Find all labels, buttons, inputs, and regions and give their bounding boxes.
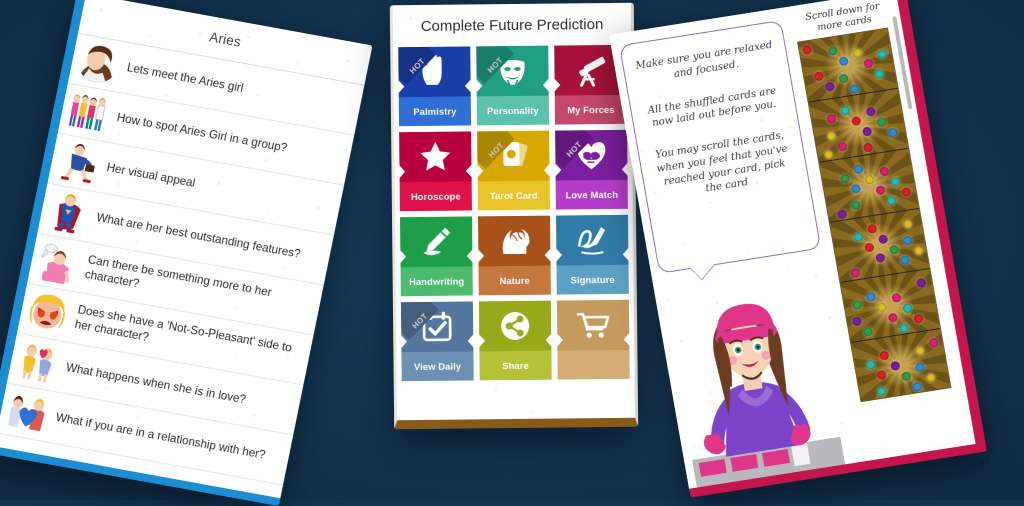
card-gem-dot <box>850 268 860 278</box>
card-gem-dot <box>865 175 875 185</box>
tile-label: Tarot Card <box>490 190 538 201</box>
aries-question-list: Lets meet the Aries girlHow to spot Arie… <box>0 34 364 486</box>
pen-writing-icon <box>400 216 473 267</box>
card-gem-dot <box>877 302 887 312</box>
card-gem-dot <box>903 219 913 229</box>
card-gem-dot <box>901 371 911 381</box>
card-gem-dot <box>865 107 875 117</box>
tile-handwriting[interactable]: Handwriting <box>400 216 473 296</box>
card-gem-dot <box>852 300 862 310</box>
card-gem-dot <box>867 223 877 233</box>
tile-label: Signature <box>571 274 615 285</box>
card-gem-dot <box>826 114 836 124</box>
card-gem-dot <box>900 255 910 265</box>
tile-nature[interactable]: Nature <box>478 216 551 296</box>
page-title-text: Aries <box>208 29 242 49</box>
shopping-cart-icon <box>557 300 630 351</box>
tile-love-match[interactable]: Love MatchHOT <box>555 130 628 210</box>
card-gem-dot <box>837 209 847 219</box>
tile-label: Handwriting <box>409 276 464 288</box>
angry-face-icon <box>24 290 71 336</box>
card-gem-dot <box>929 337 939 347</box>
app-background: Aries Lets meet the Aries girlHow to spo… <box>0 0 1024 500</box>
middle-phone-mockup: Complete Future Prediction PalmistryHOTP… <box>390 3 638 430</box>
tile-label-wrap: Horoscope <box>400 181 472 211</box>
card-gem-dot <box>887 128 897 138</box>
tile-label-wrap: Nature <box>479 266 551 296</box>
card-gem-dot <box>862 126 872 136</box>
card-gem-dot <box>879 166 889 176</box>
card-gem-dot <box>902 303 912 313</box>
thinking-woman-icon <box>34 240 81 286</box>
card-gem-dot <box>838 73 848 83</box>
tile-label-wrap: Tarot Card <box>478 181 550 211</box>
card-gem-dot <box>863 58 873 68</box>
left-phone-screen: Aries Lets meet the Aries girlHow to spo… <box>0 0 372 506</box>
card-gem-dot <box>876 185 886 195</box>
card-gem-dot <box>863 142 873 152</box>
portrait-avatar-icon <box>75 40 122 86</box>
card-gem-dot <box>913 314 923 324</box>
tile-palmistry[interactable]: PalmistryHOT <box>398 46 471 126</box>
tile-label: Love Match <box>565 189 618 201</box>
couple-in-love-icon <box>14 340 61 386</box>
tile-label-wrap: Personality <box>477 96 549 126</box>
card-gem-dot <box>891 293 901 303</box>
walking-woman-icon <box>55 140 102 186</box>
card-gem-dot <box>838 57 848 67</box>
card-gem-dot <box>851 184 861 194</box>
tile-label-wrap: View Daily <box>401 351 473 381</box>
card-gem-dot <box>865 359 875 369</box>
instruction-line: All the shuffled cards are now laid out … <box>641 83 786 132</box>
group-of-girls-icon <box>65 90 112 136</box>
card-gem-dot <box>926 373 936 383</box>
middle-phone-screen: Complete Future Prediction PalmistryHOTP… <box>390 3 638 430</box>
card-gem-dot <box>901 187 911 197</box>
tile-label-wrap: Share <box>479 351 551 381</box>
card-gem-dot <box>887 196 897 206</box>
card-gem-dot <box>851 116 861 126</box>
tile-label: Horoscope <box>411 191 461 203</box>
card-gem-dot <box>874 69 884 79</box>
card-gem-dot <box>852 48 862 58</box>
tile-label: My Forces <box>567 104 614 115</box>
tile-label: Nature <box>499 275 529 286</box>
card-gem-dot <box>875 253 885 263</box>
card-gem-dot <box>853 232 863 242</box>
card-gem-dot <box>866 291 876 301</box>
card-gem-dot <box>827 130 837 140</box>
card-gem-dot <box>840 105 850 115</box>
instruction-speech-bubble: Make sure you are relaxed and focused.Al… <box>619 20 821 274</box>
tile-signature[interactable]: Signature <box>556 215 629 295</box>
tile-label: Palmistry <box>413 106 456 117</box>
card-gem-dot <box>915 346 925 356</box>
tile-share[interactable]: Share <box>479 301 552 381</box>
tile-label-wrap: Signature <box>557 265 629 295</box>
brain-head-icon <box>478 216 551 267</box>
card-gem-dot <box>879 350 889 360</box>
tile-label-wrap: Palmistry <box>399 96 471 126</box>
card-gem-dot <box>890 176 900 186</box>
list-item-label: Lets meet the Aries girl <box>126 61 245 97</box>
card-gem-dot <box>912 382 922 392</box>
card-gem-dot <box>852 317 862 327</box>
share-nodes-icon <box>479 301 552 352</box>
card-gem-dot <box>889 244 899 254</box>
card-gem-dot <box>899 323 909 333</box>
card-gem-dot <box>827 46 837 56</box>
card-gem-dot <box>824 150 834 160</box>
card-gem-dot <box>838 141 848 151</box>
star-icon <box>399 131 472 182</box>
card-gem-dot <box>854 164 864 174</box>
card-gem-dot <box>849 83 859 93</box>
card-gem-dot <box>876 117 886 127</box>
fortune-teller-girl-icon <box>665 281 846 487</box>
card-gem-dot <box>851 200 861 210</box>
instruction-line: Make sure you are relaxed and focused. <box>633 38 778 87</box>
card-gem-dot <box>863 327 873 337</box>
card-gem-dot <box>890 361 900 371</box>
card-gem-dot <box>916 278 926 288</box>
tile-label: Share <box>502 360 529 371</box>
card-gem-dot <box>840 173 850 183</box>
tile-label-wrap: Handwriting <box>401 266 473 296</box>
card-gem-dot <box>876 386 886 396</box>
card-gem-dot <box>813 71 823 81</box>
tile-label-wrap <box>557 350 629 380</box>
tile-label: Personality <box>487 105 539 117</box>
card-gem-dot <box>877 49 887 59</box>
instruction-line: You may scroll the cards, when you feel … <box>649 128 799 204</box>
tile-tarot-card[interactable]: Tarot CardHOT <box>477 131 550 211</box>
app-title-text: Complete Future Prediction <box>421 16 604 35</box>
signature-pen-icon <box>556 215 629 266</box>
tile-label-wrap: My Forces <box>555 95 627 125</box>
tile-personality[interactable]: PersonalityHOT <box>476 46 549 126</box>
card-gem-dot <box>864 243 874 253</box>
card-gem-dot <box>914 246 924 256</box>
card-gem-dot <box>876 370 886 380</box>
relationship-heart-icon <box>4 389 51 435</box>
card-gem-dot <box>888 312 898 322</box>
tile-store[interactable] <box>557 300 630 380</box>
right-phone-screen: Make sure you are relaxed and focused.Al… <box>609 0 987 498</box>
list-item-label: Her visual appeal <box>105 161 196 192</box>
card-gem-dot <box>824 82 834 92</box>
tile-label: View Daily <box>414 361 461 372</box>
tarot-card-row[interactable] <box>851 329 951 402</box>
card-gem-dot <box>903 235 913 245</box>
app-title-bar: Complete Future Prediction <box>393 3 631 47</box>
feature-tile-grid: PalmistryHOTPersonalityHOTMy ForcesHoros… <box>393 45 634 381</box>
right-phone-mockup: Make sure you are relaxed and focused.Al… <box>609 0 987 498</box>
tile-horoscope[interactable]: Horoscope <box>399 131 472 211</box>
tile-view-daily[interactable]: View DailyHOT <box>401 301 474 381</box>
card-gem-dot <box>915 362 925 372</box>
card-gem-dot <box>802 45 812 55</box>
card-gem-dot <box>878 234 888 244</box>
tile-label-wrap: Love Match <box>556 180 628 210</box>
superhero-woman-icon <box>44 190 91 236</box>
left-phone-mockup: Aries Lets meet the Aries girlHow to spo… <box>0 0 372 506</box>
